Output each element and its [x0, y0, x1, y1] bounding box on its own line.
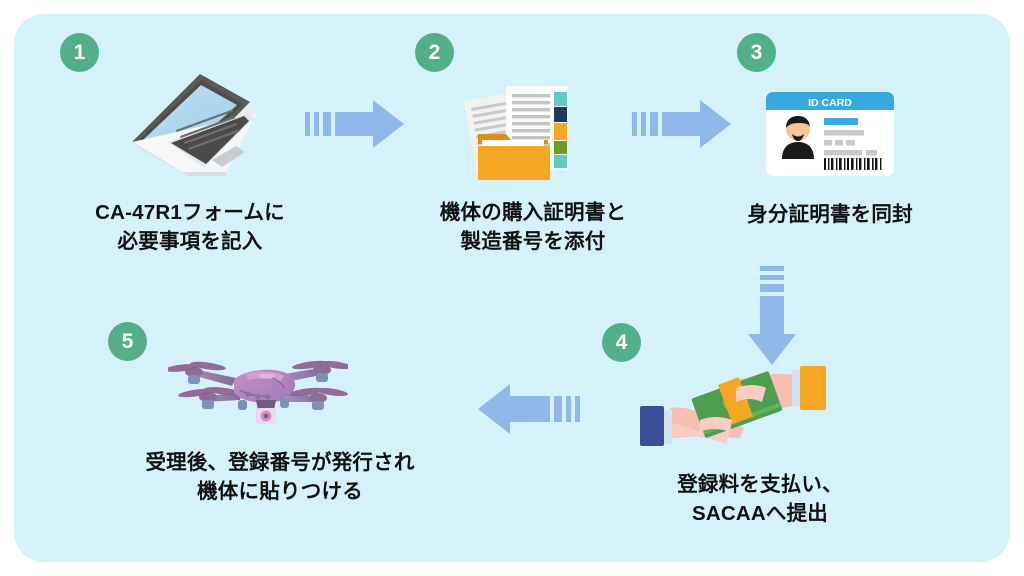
- step-badge-5-number: 5: [122, 331, 134, 352]
- step-caption-1: CA-47R1フォームに 必要事項を記入: [40, 198, 340, 256]
- arrow-step1-to-step2: [305, 94, 405, 159]
- step-badge-3-number: 3: [751, 42, 763, 63]
- step-caption-3: 身分証明書を同封: [690, 200, 970, 229]
- documents-folder-icon: [462, 78, 584, 188]
- step-badge-4: 4: [602, 323, 641, 362]
- step-badge-1: 1: [60, 33, 99, 72]
- laptop-icon: [108, 68, 258, 186]
- arrow-step2-to-step3: [632, 94, 732, 159]
- step-caption-4: 登録料を支払い、 SACAAへ提出: [610, 470, 910, 528]
- money-handover-icon: [640, 358, 830, 454]
- step-badge-2: 2: [415, 33, 454, 72]
- step-badge-3: 3: [737, 33, 776, 72]
- arrow-step3-to-step4: [742, 266, 802, 371]
- step-badge-2-number: 2: [429, 42, 441, 63]
- step-caption-2: 機体の購入証明書と 製造番号を添付: [383, 198, 683, 256]
- step-badge-5: 5: [108, 322, 147, 361]
- arrow-step4-to-step5: [470, 384, 580, 449]
- step-badge-4-number: 4: [616, 332, 628, 353]
- step-caption-5: 受理後、登録番号が発行され 機体に貼りつける: [80, 448, 480, 506]
- id-card-icon: ID CARD: [766, 92, 894, 176]
- infographic-stage: 1: [0, 0, 1024, 576]
- step-badge-1-number: 1: [74, 42, 86, 63]
- id-card-title: ID CARD: [808, 97, 852, 109]
- drone-icon: [168, 348, 348, 432]
